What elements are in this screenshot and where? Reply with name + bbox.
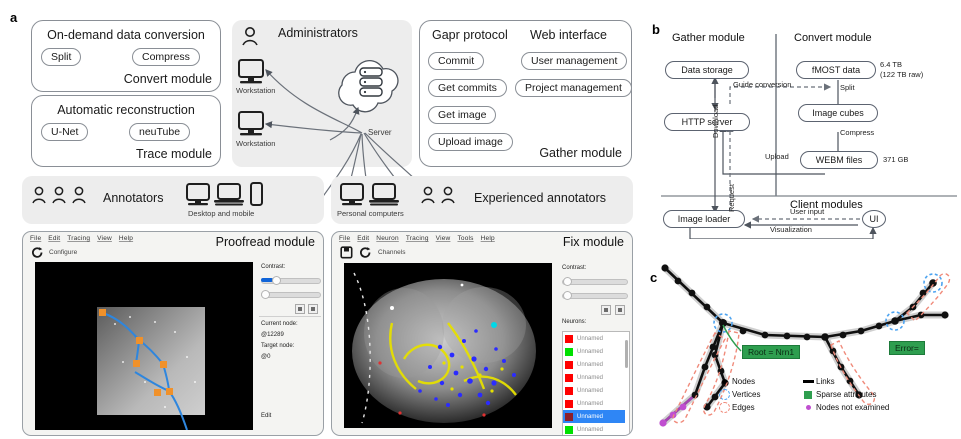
- gather-module-footer: Gather module: [539, 146, 622, 160]
- target-node-label: Target node:: [261, 343, 294, 349]
- neuron-name: Unnamed: [577, 336, 603, 342]
- neuron-name: Unnamed: [577, 388, 603, 394]
- menu-view[interactable]: View: [436, 235, 451, 242]
- pill-neutube[interactable]: neuTube: [129, 123, 190, 141]
- menu-tracing[interactable]: Tracing: [406, 235, 429, 242]
- upload-label: Upload: [765, 152, 789, 161]
- fix-contrast-label: Contrast:: [562, 265, 586, 271]
- neuron-color-swatch: [565, 374, 573, 382]
- menu-file[interactable]: File: [30, 235, 41, 242]
- gather-module-heading: Gather module: [672, 32, 745, 44]
- side-divider: [259, 316, 321, 317]
- zoom-out-button[interactable]: [308, 304, 318, 314]
- trace-module-footer: Trace module: [136, 147, 212, 161]
- fix-brain-render: [344, 263, 552, 428]
- neuron-list-item[interactable]: Unnamed: [563, 410, 625, 423]
- legend-item-sparse-attributes: Sparse attributes: [800, 388, 889, 401]
- legend-item-nodes-not-examined: Nodes not examined: [800, 401, 889, 414]
- fix-contrast-slider-2-knob[interactable]: [563, 291, 572, 300]
- menu-tracing[interactable]: Tracing: [67, 235, 90, 242]
- proofread-side-panel: Contrast:: [261, 264, 319, 270]
- neuron-list-item[interactable]: Unnamed: [563, 397, 625, 410]
- proofread-contrast-label: Contrast:: [261, 264, 319, 270]
- legend-item-links: Links: [800, 375, 889, 388]
- neuron-list-item[interactable]: Unnamed: [563, 358, 625, 371]
- legend-label-nodes-not-examined: Nodes not examined: [816, 403, 889, 412]
- refresh-icon[interactable]: [31, 246, 44, 259]
- neuron-list-item[interactable]: Unnamed: [563, 384, 625, 397]
- ring-blue-icon: [716, 389, 732, 400]
- pill-project-management[interactable]: Project management: [515, 79, 632, 97]
- download-label: Download: [711, 105, 720, 138]
- node-http-server: HTTP server: [664, 113, 750, 131]
- neuron-list-item[interactable]: Unnamed: [563, 423, 625, 436]
- neuron-list-item[interactable]: Unnamed: [563, 371, 625, 384]
- current-node-value: @12289: [261, 332, 284, 338]
- pill-unet[interactable]: U-Net: [41, 123, 88, 141]
- legend-label-sparse-attributes: Sparse attributes: [816, 390, 876, 399]
- target-node-value: @0: [261, 354, 270, 360]
- proofread-module-window[interactable]: FileEditTracingViewHelp Proofread module…: [22, 231, 324, 436]
- legend-label-links: Links: [816, 377, 835, 386]
- legend-item-nodes: Nodes: [716, 375, 760, 388]
- server-label: Server: [368, 128, 392, 137]
- menu-help[interactable]: Help: [481, 235, 495, 242]
- panel-c-legend: Nodes Vertices Edges: [716, 375, 760, 414]
- user-input-label: User input: [790, 207, 824, 216]
- neuron-color-swatch: [565, 348, 573, 356]
- proofread-canvas[interactable]: [35, 262, 253, 430]
- neuron-color-swatch: [565, 426, 573, 434]
- node-fmost-data: fMOST data: [796, 61, 876, 79]
- request-label: Request: [727, 184, 736, 212]
- neurons-rows-container[interactable]: UnnamedUnnamedUnnamedUnnamedUnnamedUnnam…: [563, 332, 625, 436]
- gather-module-card: Gapr protocol Web interface Commit Get c…: [419, 20, 632, 167]
- pill-get-commits[interactable]: Get commits: [428, 79, 507, 97]
- contrast-slider-2-track[interactable]: [261, 292, 321, 298]
- fix-contrast-slider-1-knob[interactable]: [563, 277, 572, 286]
- ring-red-icon: [716, 402, 732, 413]
- fix-module-window[interactable]: FileEditNeuronTracingViewToolsHelp Fix m…: [331, 231, 633, 436]
- contrast-slider-2-knob[interactable]: [261, 290, 270, 299]
- neuron-color-swatch: [565, 335, 573, 343]
- workstation-caption-2: Workstation: [236, 139, 275, 148]
- node-data-storage: Data storage: [665, 61, 749, 79]
- edit-button[interactable]: Edit: [261, 413, 271, 419]
- web-interface-title: Web interface: [530, 28, 607, 42]
- pill-compress[interactable]: Compress: [132, 48, 200, 66]
- error-badge: Error=: [889, 341, 925, 355]
- neuron-name: Unnamed: [577, 349, 603, 355]
- root-badge: Root = Nrn1: [742, 345, 800, 359]
- save-icon[interactable]: [340, 246, 353, 259]
- proofread-module-title: Proofread module: [216, 235, 315, 249]
- refresh-icon[interactable]: [359, 246, 372, 259]
- legend-item-edges: Edges: [716, 401, 760, 414]
- fix-menubar[interactable]: FileEditNeuronTracingViewToolsHelp: [339, 235, 502, 242]
- proofread-menubar[interactable]: FileEditTracingViewHelp: [30, 235, 140, 242]
- neurons-scrollbar[interactable]: [625, 340, 628, 368]
- neuron-name: Unnamed: [577, 427, 603, 433]
- proofread-tracing-overlay: [35, 262, 253, 430]
- dot-black-icon: [716, 379, 732, 384]
- neuron-color-swatch: [565, 387, 573, 395]
- guide-conversion-label: Guide conversion: [733, 80, 791, 89]
- contrast-slider-1-knob[interactable]: [272, 276, 281, 285]
- zoom-in-button[interactable]: [295, 304, 305, 314]
- neuron-list-item[interactable]: Unnamed: [563, 332, 625, 345]
- legend-item-vertices: Vertices: [716, 388, 760, 401]
- administrators-label: Administrators: [278, 26, 358, 40]
- convert-module-heading: Convert module: [794, 32, 872, 44]
- pill-get-image[interactable]: Get image: [428, 106, 496, 124]
- neuron-name: Unnamed: [577, 362, 603, 368]
- legend-label-nodes: Nodes: [732, 377, 755, 386]
- compress-label: Compress: [840, 128, 874, 137]
- pill-user-management[interactable]: User management: [521, 52, 627, 70]
- node-ui: UI: [862, 210, 886, 228]
- menu-file[interactable]: File: [339, 235, 350, 242]
- menu-edit[interactable]: Edit: [48, 235, 60, 242]
- neuron-name: Unnamed: [577, 375, 603, 381]
- menu-tools[interactable]: Tools: [457, 235, 473, 242]
- menu-neuron[interactable]: Neuron: [376, 235, 399, 242]
- panel-c-legend-2: Links Sparse attributes Nodes not examin…: [800, 375, 889, 414]
- legend-label-edges: Edges: [732, 403, 755, 412]
- fmost-raw-size-label: (122 TB raw): [880, 70, 923, 79]
- annotators-label: Annotators: [103, 191, 163, 205]
- split-label: Split: [840, 83, 855, 92]
- current-node-label: Current node:: [261, 321, 298, 327]
- proofread-configure-button[interactable]: Configure: [49, 249, 77, 256]
- node-image-loader: Image loader: [663, 210, 745, 228]
- fix-module-title: Fix module: [563, 235, 624, 249]
- node-webm-files: WEBM files: [800, 151, 878, 169]
- pill-commit[interactable]: Commit: [428, 52, 484, 70]
- fix-zoom-out-button[interactable]: [615, 305, 625, 315]
- bar-black-icon: [800, 380, 816, 383]
- neuron-name: Unnamed: [577, 401, 603, 407]
- experienced-devices-caption: Personal computers: [337, 209, 404, 218]
- square-green-icon: [800, 391, 816, 399]
- annotators-icons: [22, 176, 324, 224]
- gapr-protocol-title: Gapr protocol: [432, 28, 508, 42]
- experienced-annotators-label: Experienced annotators: [474, 191, 606, 205]
- pill-split[interactable]: Split: [41, 48, 81, 66]
- neuron-color-swatch: [565, 413, 573, 421]
- fix-canvas[interactable]: [344, 263, 552, 428]
- webm-size-label: 371 GB: [883, 155, 908, 164]
- fix-zoom-in-button[interactable]: [601, 305, 611, 315]
- node-image-cubes: Image cubes: [798, 104, 878, 122]
- pill-upload-image[interactable]: Upload image: [428, 133, 513, 151]
- neuron-name: Unnamed: [577, 414, 603, 420]
- convert-module-title: On-demand data conversion: [47, 28, 205, 42]
- neuron-list-item[interactable]: Unnamed: [563, 345, 625, 358]
- neuron-color-swatch: [565, 400, 573, 408]
- panel-a-letter: a: [10, 10, 17, 25]
- annotators-devices-caption: Desktop and mobile: [188, 209, 254, 218]
- workstation-caption-1: Workstation: [236, 86, 275, 95]
- trace-module-title: Automatic reconstruction: [57, 103, 195, 117]
- neurons-label: Neurons:: [562, 319, 586, 325]
- fix-channels-button[interactable]: Channels: [378, 249, 405, 256]
- convert-module-card: On-demand data conversion Split Compress…: [31, 20, 221, 92]
- dot-violet-icon: [800, 405, 816, 410]
- neuron-color-swatch: [565, 361, 573, 369]
- menu-view[interactable]: View: [97, 235, 112, 242]
- fmost-size-label: 6.4 TB: [880, 60, 902, 69]
- legend-label-vertices: Vertices: [732, 390, 760, 399]
- menu-help[interactable]: Help: [119, 235, 133, 242]
- menu-edit[interactable]: Edit: [357, 235, 369, 242]
- visualization-label: Visualization: [770, 225, 812, 234]
- trace-module-card: Automatic reconstruction U-Net neuTube T…: [31, 95, 221, 167]
- convert-module-footer: Convert module: [124, 72, 212, 86]
